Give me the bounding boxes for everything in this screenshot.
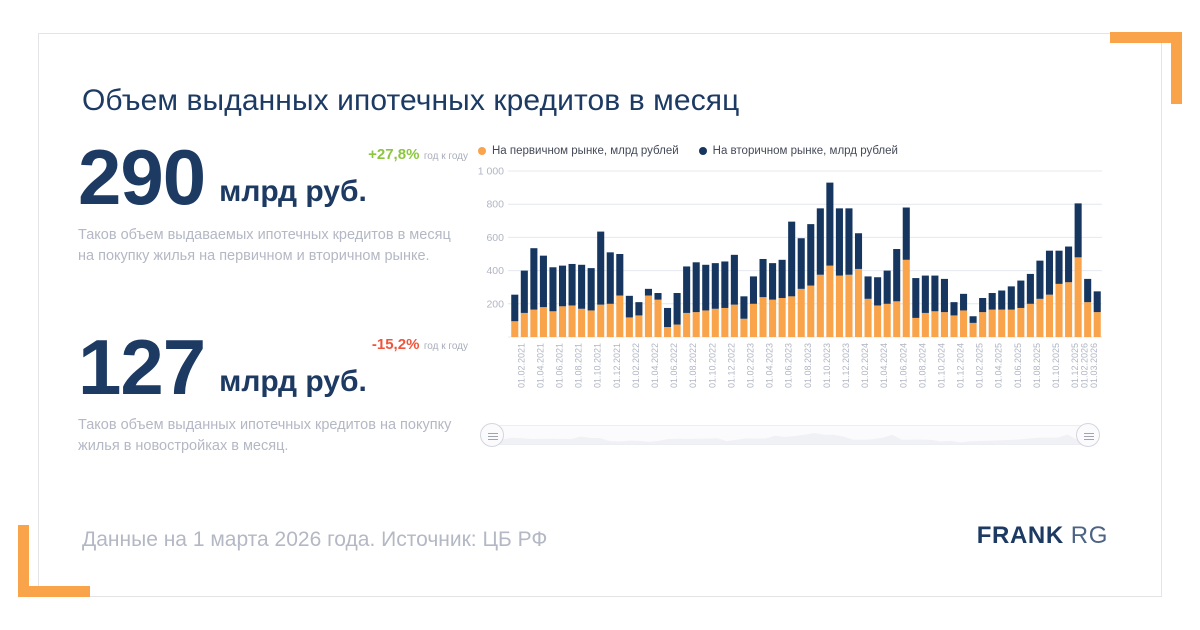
chart-plot-area[interactable]: 2004006008001 00001.02.202101.04.202101.… [470, 165, 1110, 415]
bar-segment-secondary [807, 224, 814, 285]
logo-secondary-text: RG [1071, 522, 1108, 550]
stat-value-row: 127 млрд руб. -15,2% год к году [78, 330, 468, 405]
x-axis-tick-label: 01.03.2026 [1089, 343, 1099, 388]
bar-segment-primary [530, 310, 537, 337]
bar-segment-secondary [893, 249, 900, 301]
bar-group[interactable] [731, 255, 738, 337]
bar-segment-primary [950, 315, 957, 337]
bar-segment-primary [674, 325, 681, 337]
x-axis-tick-label: 01.10.2021 [593, 343, 603, 388]
x-axis-tick-label: 01.04.2022 [650, 343, 660, 388]
bar-segment-secondary [989, 293, 996, 310]
bar-group[interactable] [1046, 251, 1053, 337]
x-axis-tick-label: 01.04.2024 [879, 343, 889, 388]
legend-dot-icon [478, 147, 486, 155]
bar-segment-secondary [884, 271, 891, 304]
x-axis-tick-label: 01.08.2021 [574, 343, 584, 388]
bar-group[interactable] [588, 268, 595, 337]
bar-segment-primary [1065, 282, 1072, 337]
footer-source-note: Данные на 1 марта 2026 года. Источник: Ц… [82, 528, 547, 552]
bar-segment-secondary [1065, 247, 1072, 283]
bar-group[interactable] [740, 296, 747, 337]
bar-group[interactable] [884, 271, 891, 337]
bar-segment-primary [1084, 302, 1091, 337]
bar-group[interactable] [511, 295, 518, 337]
bar-segment-secondary [597, 232, 604, 305]
bar-group[interactable] [1027, 274, 1034, 337]
bar-segment-primary [874, 305, 881, 337]
svg-text:200: 200 [486, 298, 504, 310]
bar-segment-primary [845, 275, 852, 337]
bar-segment-primary [664, 327, 671, 337]
datazoom-left-handle[interactable] [480, 423, 504, 447]
bar-segment-primary [779, 298, 786, 337]
bar-segment-secondary [865, 276, 872, 298]
bar-segment-primary [702, 310, 709, 337]
bar-segment-primary [884, 304, 891, 337]
bar-group[interactable] [530, 248, 537, 337]
bar-group[interactable] [893, 249, 900, 337]
stat-value-row: 290 млрд руб. +27,8% год к году [78, 140, 468, 215]
x-axis-tick-label: 01.08.2025 [1032, 343, 1042, 388]
bar-segment-secondary [760, 259, 767, 297]
x-axis-tick-label: 01.12.2022 [726, 343, 736, 388]
bar-segment-secondary [826, 183, 833, 266]
bar-segment-primary [893, 301, 900, 337]
bar-group[interactable] [1065, 247, 1072, 337]
bar-segment-secondary [1075, 203, 1082, 257]
bar-segment-secondary [998, 291, 1005, 310]
bar-segment-primary [578, 309, 585, 337]
bar-group[interactable] [521, 271, 528, 337]
bar-group[interactable] [540, 256, 547, 337]
bar-group[interactable] [654, 293, 661, 337]
corner-accent-top-right [1110, 32, 1182, 104]
bar-segment-secondary [1046, 251, 1053, 295]
bar-segment-secondary [845, 208, 852, 274]
bar-segment-secondary [1094, 291, 1101, 312]
bar-group[interactable] [645, 289, 652, 337]
bar-chart-svg: 2004006008001 00001.02.202101.04.202101.… [470, 165, 1110, 415]
stat-delta-note: год к году [424, 341, 468, 352]
bar-segment-primary [788, 296, 795, 337]
bar-group[interactable] [912, 278, 919, 337]
bar-group[interactable] [1017, 281, 1024, 337]
bar-group[interactable] [1075, 203, 1082, 337]
bar-segment-secondary [740, 296, 747, 318]
corner-accent-bottom-left [18, 525, 90, 597]
stat-block-primary: 127 млрд руб. -15,2% год к году Таков об… [78, 330, 468, 457]
x-axis-tick-label: 01.04.2025 [994, 343, 1004, 388]
bar-segment-primary [693, 312, 700, 337]
bar-segment-secondary [578, 265, 585, 309]
bar-segment-secondary [979, 298, 986, 312]
legend-label: На первичном рынке, млрд рублей [492, 145, 679, 157]
bar-segment-primary [635, 315, 642, 337]
bar-segment-secondary [693, 262, 700, 312]
bar-segment-secondary [931, 276, 938, 312]
bar-group[interactable] [998, 291, 1005, 337]
bar-segment-primary [511, 321, 518, 337]
bar-segment-primary [960, 310, 967, 337]
stat-unit: млрд руб. [219, 175, 367, 209]
bar-segment-secondary [664, 308, 671, 327]
bar-segment-secondary [941, 279, 948, 312]
bar-group[interactable] [1056, 251, 1063, 337]
bar-segment-primary [1008, 310, 1015, 337]
bar-segment-secondary [721, 261, 728, 307]
bar-group[interactable] [616, 254, 623, 337]
x-axis-tick-label: 01.06.2022 [669, 343, 679, 388]
stat-description: Таков объем выданных ипотечных кредитов … [78, 415, 458, 457]
bar-segment-secondary [569, 264, 576, 306]
bar-segment-primary [750, 304, 757, 337]
bar-segment-primary [798, 289, 805, 337]
bar-group[interactable] [845, 208, 852, 337]
infographic-root: Объем выданных ипотечных кредитов в меся… [0, 0, 1200, 630]
bar-group[interactable] [865, 276, 872, 337]
bar-segment-primary [912, 318, 919, 337]
bar-segment-secondary [769, 263, 776, 300]
bar-segment-primary [521, 313, 528, 337]
stat-block-total: 290 млрд руб. +27,8% год к году Таков об… [78, 140, 468, 267]
bar-segment-secondary [607, 252, 614, 303]
bar-segment-primary [1075, 257, 1082, 337]
bar-group[interactable] [702, 265, 709, 337]
bar-segment-primary [654, 300, 661, 337]
bar-segment-secondary [750, 276, 757, 303]
bar-segment-secondary [874, 277, 881, 305]
bar-group[interactable] [788, 222, 795, 337]
bar-group[interactable] [989, 293, 996, 337]
bar-segment-primary [1056, 284, 1063, 337]
bar-segment-primary [616, 296, 623, 338]
stat-value: 127 [78, 330, 205, 405]
bar-group[interactable] [855, 233, 862, 337]
svg-text:400: 400 [486, 265, 504, 277]
x-axis-tick-label: 01.12.2021 [612, 343, 622, 388]
bar-segment-secondary [645, 289, 652, 296]
x-axis-tick-label: 01.04.2021 [535, 343, 545, 388]
bar-group[interactable] [960, 294, 967, 337]
bar-segment-primary [817, 275, 824, 337]
bar-group[interactable] [941, 279, 948, 337]
bar-group[interactable] [1094, 291, 1101, 337]
x-axis-tick-label: 01.08.2022 [688, 343, 698, 388]
bar-segment-primary [1027, 304, 1034, 337]
bar-segment-primary [865, 299, 872, 337]
bar-group[interactable] [549, 267, 556, 337]
bar-group[interactable] [826, 183, 833, 337]
bar-segment-secondary [683, 266, 690, 312]
bar-group[interactable] [798, 238, 805, 337]
stat-value: 290 [78, 140, 205, 215]
bar-segment-secondary [549, 267, 556, 311]
x-axis-tick-label: 01.10.2024 [936, 343, 946, 388]
x-axis-tick-label: 01.02.2023 [745, 343, 755, 388]
chart-datazoom-slider[interactable] [480, 423, 1100, 447]
bar-group[interactable] [607, 252, 614, 337]
bar-group[interactable] [817, 208, 824, 337]
stat-delta-value: +27,8% [368, 146, 419, 163]
bar-group[interactable] [721, 261, 728, 337]
bar-segment-secondary [702, 265, 709, 311]
bar-group[interactable] [760, 259, 767, 337]
x-axis-tick-label: 01.06.2021 [555, 343, 565, 388]
bar-segment-secondary [912, 278, 919, 318]
bar-group[interactable] [578, 265, 585, 337]
datazoom-track[interactable] [492, 425, 1088, 445]
bar-segment-secondary [1008, 286, 1015, 309]
bar-segment-primary [607, 304, 614, 337]
x-axis-tick-label: 01.06.2023 [784, 343, 794, 388]
bar-segment-secondary [950, 302, 957, 315]
bar-segment-primary [941, 312, 948, 337]
bar-segment-secondary [559, 266, 566, 307]
x-axis-tick-label: 01.02.2025 [975, 343, 985, 388]
bar-group[interactable] [1084, 279, 1091, 337]
bar-segment-primary [903, 260, 910, 337]
bar-segment-primary [712, 309, 719, 337]
x-axis-tick-label: 01.02.2024 [860, 343, 870, 388]
bar-segment-primary [998, 310, 1005, 337]
bar-group[interactable] [979, 298, 986, 337]
bar-segment-primary [769, 300, 776, 337]
chart-legend: На первичном рынке, млрд рублей На втори… [470, 145, 1110, 157]
bar-segment-secondary [588, 268, 595, 310]
bar-segment-secondary [635, 302, 642, 315]
bar-segment-primary [559, 306, 566, 337]
x-axis-tick-label: 01.08.2023 [803, 343, 813, 388]
bar-segment-primary [721, 308, 728, 337]
bar-segment-primary [588, 310, 595, 337]
bar-group[interactable] [970, 316, 977, 337]
bar-group[interactable] [1008, 286, 1015, 337]
bar-group[interactable] [874, 277, 881, 337]
bar-segment-primary [626, 317, 633, 337]
x-axis-tick-label: 01.02.2026 [1080, 343, 1090, 388]
bar-segment-secondary [674, 293, 681, 325]
page-title: Объем выданных ипотечных кредитов в меся… [82, 84, 739, 118]
x-axis-tick-label: 01.06.2024 [898, 343, 908, 388]
bar-segment-secondary [855, 233, 862, 269]
x-axis-tick-label: 01.12.2023 [841, 343, 851, 388]
bar-segment-primary [931, 311, 938, 337]
bar-segment-primary [1094, 312, 1101, 337]
bar-segment-secondary [1027, 274, 1034, 304]
bar-segment-primary [597, 305, 604, 337]
bar-group[interactable] [664, 308, 671, 337]
bar-segment-primary [836, 276, 843, 337]
bar-group[interactable] [635, 302, 642, 337]
stat-delta-value: -15,2% [372, 336, 420, 353]
bar-segment-primary [569, 305, 576, 337]
bar-segment-secondary [1017, 281, 1024, 308]
stat-delta: -15,2% год к году [372, 336, 468, 354]
bar-group[interactable] [683, 266, 690, 337]
x-axis-tick-label: 01.10.2022 [707, 343, 717, 388]
bar-segment-secondary [1036, 261, 1043, 299]
bar-segment-secondary [731, 255, 738, 305]
x-axis-tick-label: 01.06.2025 [1013, 343, 1023, 388]
bar-segment-secondary [836, 208, 843, 275]
bar-segment-primary [549, 311, 556, 337]
x-axis-tick-label: 01.02.2021 [516, 343, 526, 388]
bar-segment-primary [1036, 299, 1043, 337]
legend-item-primary[interactable]: На первичном рынке, млрд рублей [478, 145, 679, 157]
bar-segment-secondary [970, 316, 977, 323]
bar-group[interactable] [626, 296, 633, 337]
svg-text:600: 600 [486, 232, 504, 244]
bar-segment-primary [731, 305, 738, 337]
datazoom-right-handle[interactable] [1076, 423, 1100, 447]
x-axis-tick-label: 01.04.2023 [765, 343, 775, 388]
bar-segment-secondary [530, 248, 537, 309]
x-axis-tick-label: 01.12.2025 [1070, 343, 1080, 388]
bar-segment-secondary [817, 208, 824, 274]
bar-segment-secondary [922, 276, 929, 313]
bar-segment-primary [740, 319, 747, 337]
bar-segment-secondary [960, 294, 967, 311]
stat-description: Таков объем выдаваемых ипотечных кредито… [78, 225, 458, 267]
bar-group[interactable] [597, 232, 604, 337]
x-axis-tick-label: 01.10.2023 [822, 343, 832, 388]
bar-segment-primary [922, 313, 929, 337]
bar-segment-primary [807, 286, 814, 337]
bar-segment-secondary [540, 256, 547, 307]
chart-card: На первичном рынке, млрд рублей На втори… [470, 145, 1110, 490]
bar-segment-primary [645, 296, 652, 338]
bar-group[interactable] [950, 302, 957, 337]
bar-segment-secondary [511, 295, 518, 322]
bar-group[interactable] [674, 293, 681, 337]
bar-group[interactable] [836, 208, 843, 337]
bar-group[interactable] [903, 208, 910, 337]
legend-label: На вторичном рынке, млрд рублей [713, 145, 898, 157]
bar-group[interactable] [931, 276, 938, 337]
bar-segment-secondary [903, 208, 910, 260]
bar-group[interactable] [1036, 261, 1043, 337]
brand-logo: FRANK RG [977, 522, 1108, 550]
svg-text:1 000: 1 000 [478, 166, 504, 178]
bar-segment-primary [970, 323, 977, 337]
bar-segment-secondary [616, 254, 623, 296]
svg-text:800: 800 [486, 199, 504, 211]
bar-segment-secondary [1056, 251, 1063, 284]
legend-dot-icon [699, 147, 707, 155]
bar-segment-primary [989, 310, 996, 337]
bar-group[interactable] [750, 276, 757, 337]
bar-segment-primary [855, 269, 862, 337]
x-axis-tick-label: 01.12.2024 [956, 343, 966, 388]
x-axis-tick-label: 01.08.2024 [917, 343, 927, 388]
bar-segment-primary [1046, 295, 1053, 337]
bar-group[interactable] [693, 262, 700, 337]
bar-group[interactable] [559, 266, 566, 337]
bar-segment-secondary [626, 296, 633, 318]
bar-group[interactable] [779, 260, 786, 337]
stat-delta: +27,8% год к году [368, 146, 468, 164]
bar-segment-secondary [779, 260, 786, 298]
bar-segment-secondary [1084, 279, 1091, 302]
bar-group[interactable] [769, 263, 776, 337]
datazoom-preview-chart [493, 426, 1087, 444]
logo-primary-text: FRANK [977, 522, 1064, 550]
bar-segment-primary [760, 297, 767, 337]
bar-segment-secondary [798, 238, 805, 289]
bar-group[interactable] [569, 264, 576, 337]
bar-segment-primary [979, 312, 986, 337]
bar-segment-secondary [521, 271, 528, 313]
x-axis-tick-label: 01.10.2025 [1051, 343, 1061, 388]
bar-segment-primary [826, 266, 833, 337]
bar-group[interactable] [807, 224, 814, 337]
bar-segment-primary [540, 307, 547, 337]
bar-group[interactable] [712, 263, 719, 337]
stat-unit: млрд руб. [219, 365, 367, 399]
bar-group[interactable] [922, 276, 929, 337]
bar-segment-secondary [788, 222, 795, 297]
legend-item-secondary[interactable]: На вторичном рынке, млрд рублей [699, 145, 898, 157]
stat-delta-note: год к году [424, 151, 468, 162]
bar-segment-primary [683, 313, 690, 337]
bar-segment-secondary [712, 263, 719, 309]
x-axis-tick-label: 01.02.2022 [631, 343, 641, 388]
bar-segment-primary [1017, 308, 1024, 337]
bar-segment-secondary [654, 293, 661, 300]
